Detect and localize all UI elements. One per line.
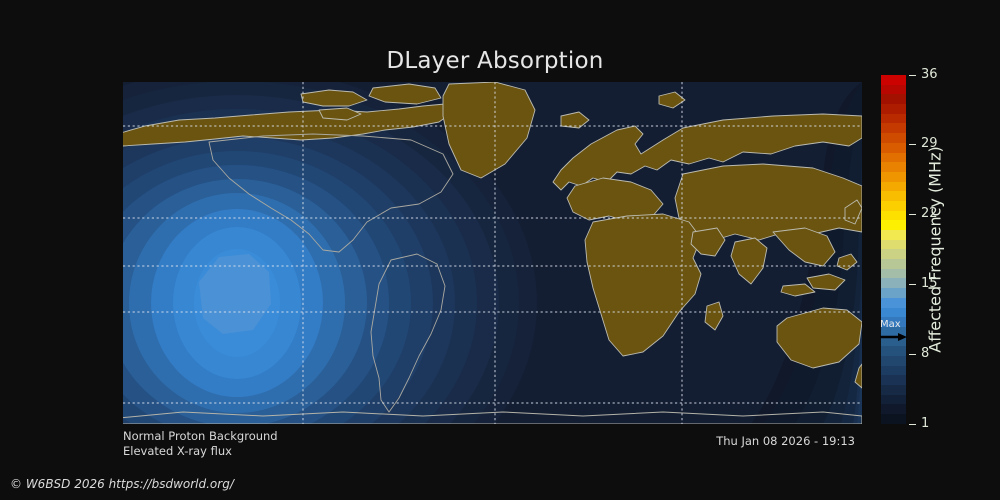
note-xray-flux: Elevated X-ray flux bbox=[123, 444, 278, 459]
colorbar-band bbox=[881, 366, 906, 376]
colorbar-band bbox=[881, 395, 906, 405]
colorbar-band bbox=[881, 337, 906, 347]
colorbar-band bbox=[881, 346, 906, 356]
timestamp: Thu Jan 08 2026 - 19:13 bbox=[716, 434, 855, 448]
colorbar-band bbox=[881, 259, 906, 269]
page-title: DLayer Absorption bbox=[0, 48, 990, 74]
colorbar-band bbox=[881, 356, 906, 366]
colorbar-band bbox=[881, 269, 906, 279]
colorbar-band bbox=[881, 298, 906, 308]
colorbar-band bbox=[881, 385, 906, 395]
colorbar-band bbox=[881, 414, 906, 424]
colorbar-band bbox=[881, 182, 906, 192]
footer-credit: © W6BSD 2026 https://bsdworld.org/ bbox=[10, 477, 234, 491]
colorbar-band bbox=[881, 278, 906, 288]
colorbar-band bbox=[881, 308, 906, 318]
colorbar-band bbox=[881, 288, 906, 298]
colorbar-band bbox=[881, 220, 906, 230]
colorbar-gradient bbox=[881, 75, 906, 424]
world-map-svg bbox=[123, 82, 862, 424]
colorbar-band bbox=[881, 211, 906, 221]
colorbar-band bbox=[881, 201, 906, 211]
colorbar-band bbox=[881, 104, 906, 114]
colorbar-axis-label-text: Affected Frequency (MHz) bbox=[926, 146, 945, 352]
colorbar-band bbox=[881, 172, 906, 182]
colorbar-band bbox=[881, 317, 906, 327]
colorbar-tick-line bbox=[909, 354, 916, 355]
colorbar-band bbox=[881, 143, 906, 153]
colorbar-band bbox=[881, 123, 906, 133]
colorbar-band bbox=[881, 249, 906, 259]
colorbar-band bbox=[881, 327, 906, 337]
colorbar-band bbox=[881, 85, 906, 95]
colorbar-band bbox=[881, 153, 906, 163]
status-notes: Normal Proton Background Elevated X-ray … bbox=[123, 429, 278, 459]
colorbar-band bbox=[881, 133, 906, 143]
colorbar-tick-line bbox=[909, 75, 916, 76]
colorbar-tick-line bbox=[909, 214, 916, 215]
colorbar-band bbox=[881, 75, 906, 85]
colorbar-axis-label: Affected Frequency (MHz) bbox=[922, 75, 948, 424]
colorbar-band bbox=[881, 162, 906, 172]
map-plot-area[interactable] bbox=[123, 82, 862, 424]
colorbar-band bbox=[881, 404, 906, 414]
note-proton-background: Normal Proton Background bbox=[123, 429, 278, 444]
colorbar-band bbox=[881, 375, 906, 385]
colorbar-band bbox=[881, 114, 906, 124]
colorbar[interactable] bbox=[881, 75, 906, 424]
colorbar-band bbox=[881, 94, 906, 104]
colorbar-band bbox=[881, 240, 906, 250]
colorbar-band bbox=[881, 191, 906, 201]
colorbar-tick-line bbox=[909, 284, 916, 285]
colorbar-tick-line bbox=[909, 144, 916, 145]
colorbar-band bbox=[881, 230, 906, 240]
colorbar-tick-line bbox=[909, 424, 916, 425]
